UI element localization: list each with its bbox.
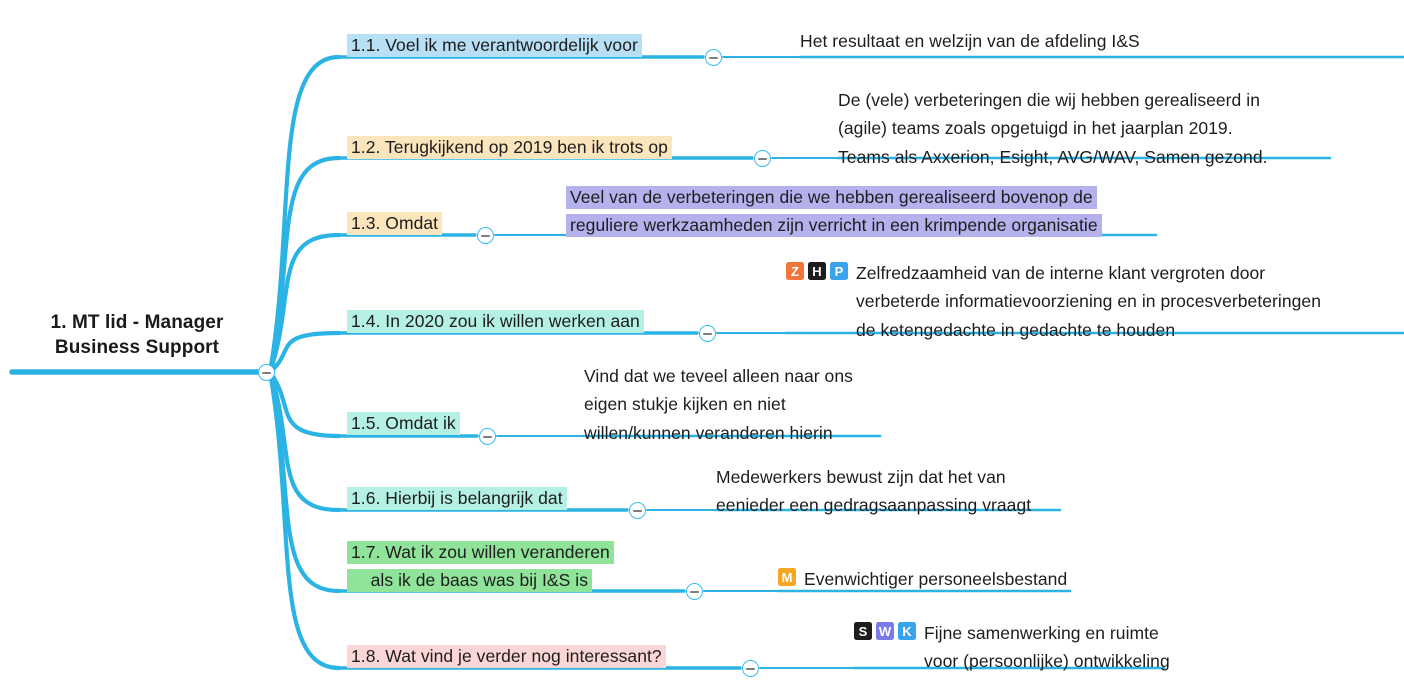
branch-curve-1.1: [270, 57, 339, 372]
branch-label-line: 1.7. Wat ik zou willen veranderen: [347, 541, 614, 564]
collapse-toggle-1.7[interactable]: [686, 583, 703, 600]
branch-label-1.5[interactable]: 1.5. Omdat ik: [347, 409, 460, 437]
detail-text-line: de ketengedachte in gedachte te houden: [856, 320, 1175, 340]
branch-label-1.8[interactable]: 1.8. Wat vind je verder nog interessant?: [347, 642, 666, 670]
detail-text-line: Evenwichtiger personeelsbestand: [804, 569, 1067, 589]
branch-label-1.4[interactable]: 1.4. In 2020 zou ik willen werken aan: [347, 307, 644, 335]
badge-h-icon[interactable]: H: [808, 262, 826, 280]
app-badges-1.7: M: [778, 568, 796, 586]
detail-text-1.4[interactable]: Zelfredzaamheid van de interne klant ver…: [856, 259, 1321, 344]
root-node-label: 1. MT lid - Manager Business Support: [18, 310, 256, 360]
detail-text-line: De (vele) verbeteringen die wij hebben g…: [838, 90, 1260, 110]
branch-label-line: 1.5. Omdat ik: [347, 412, 460, 435]
collapse-toggle-1.3[interactable]: [477, 227, 494, 244]
branch-label-line: 1.6. Hierbij is belangrijk dat: [347, 487, 567, 510]
detail-text-line: Zelfredzaamheid van de interne klant ver…: [856, 263, 1265, 283]
branch-label-1.7[interactable]: 1.7. Wat ik zou willen veranderen als ik…: [347, 538, 614, 595]
detail-text-line: Teams als Axxerion, Esight, AVG/WAV, Sam…: [838, 147, 1268, 167]
detail-text-1.6[interactable]: Medewerkers bewust zijn dat het vaneenie…: [716, 463, 1031, 520]
mindmap-canvas: 1. MT lid - Manager Business Support 1.1…: [0, 0, 1404, 686]
detail-text-line: verbeterde informatievoorziening en in p…: [856, 291, 1321, 311]
detail-text-1.1[interactable]: Het resultaat en welzijn van de afdeling…: [800, 27, 1140, 55]
detail-text-line: Fijne samenwerking en ruimte: [924, 623, 1159, 643]
root-collapse-toggle[interactable]: [258, 364, 275, 381]
detail-text-1.2[interactable]: De (vele) verbeteringen die wij hebben g…: [838, 86, 1268, 171]
badge-p-icon[interactable]: P: [830, 262, 848, 280]
detail-text-line: eigen stukje kijken en niet: [584, 394, 786, 414]
detail-text-line: Het resultaat en welzijn van de afdeling…: [800, 31, 1140, 51]
badge-k-icon[interactable]: K: [898, 622, 916, 640]
detail-text-line: eenieder een gedragsaanpassing vraagt: [716, 495, 1031, 515]
branch-label-line: 1.4. In 2020 zou ik willen werken aan: [347, 310, 644, 333]
collapse-toggle-1.4[interactable]: [699, 325, 716, 342]
branch-label-line: 1.8. Wat vind je verder nog interessant?: [347, 645, 666, 668]
branch-curve-1.3: [270, 235, 339, 372]
app-badges-1.8: SWK: [854, 622, 916, 640]
branch-label-line: 1.3. Omdat: [347, 212, 442, 235]
detail-text-line: Veel van de verbeteringen die we hebben …: [566, 186, 1097, 209]
collapse-toggle-1.1[interactable]: [705, 49, 722, 66]
detail-text-line: reguliere werkzaamheden zijn verricht in…: [566, 214, 1102, 237]
app-badges-1.4: ZHP: [786, 262, 848, 280]
branch-label-1.6[interactable]: 1.6. Hierbij is belangrijk dat: [347, 484, 567, 512]
detail-text-1.5[interactable]: Vind dat we teveel alleen naar onseigen …: [584, 362, 853, 447]
branch-curve-1.2: [270, 158, 339, 372]
branch-label-line: als ik de baas was bij I&S is: [347, 569, 592, 592]
branch-label-1.2[interactable]: 1.2. Terugkijkend op 2019 ben ik trots o…: [347, 133, 672, 161]
branch-curve-1.7: [270, 372, 339, 591]
detail-text-line: Medewerkers bewust zijn dat het van: [716, 467, 1006, 487]
detail-text-1.8[interactable]: Fijne samenwerking en ruimtevoor (persoo…: [924, 619, 1170, 676]
branch-label-line: 1.1. Voel ik me verantwoordelijk voor: [347, 34, 642, 57]
badge-w-icon[interactable]: W: [876, 622, 894, 640]
branch-label-1.3[interactable]: 1.3. Omdat: [347, 209, 442, 237]
detail-text-1.7[interactable]: Evenwichtiger personeelsbestand: [804, 565, 1067, 593]
detail-text-line: Vind dat we teveel alleen naar ons: [584, 366, 853, 386]
badge-s-icon[interactable]: S: [854, 622, 872, 640]
collapse-toggle-1.6[interactable]: [629, 502, 646, 519]
badge-m-icon[interactable]: M: [778, 568, 796, 586]
collapse-toggle-1.5[interactable]: [479, 428, 496, 445]
detail-text-line: voor (persoonlijke) ontwikkeling: [924, 651, 1170, 671]
branch-label-line: 1.2. Terugkijkend op 2019 ben ik trots o…: [347, 136, 672, 159]
branch-curve-1.6: [270, 372, 339, 510]
branch-curve-1.4: [270, 333, 339, 372]
detail-text-line: (agile) teams zoals opgetuigd in het jaa…: [838, 118, 1233, 138]
branch-curve-1.8: [270, 372, 339, 668]
collapse-toggle-1.8[interactable]: [742, 660, 759, 677]
detail-text-1.3[interactable]: Veel van de verbeteringen die we hebben …: [566, 183, 1102, 240]
branch-label-1.1[interactable]: 1.1. Voel ik me verantwoordelijk voor: [347, 31, 642, 59]
branch-curve-1.5: [270, 372, 339, 436]
collapse-toggle-1.2[interactable]: [754, 150, 771, 167]
badge-z-icon[interactable]: Z: [786, 262, 804, 280]
detail-text-line: willen/kunnen veranderen hierin: [584, 423, 833, 443]
